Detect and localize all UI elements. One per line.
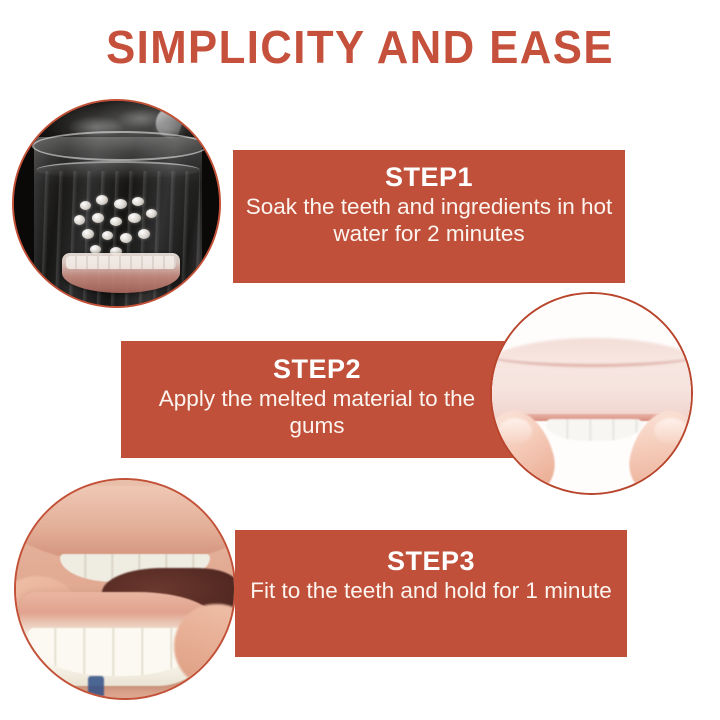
bead (110, 217, 122, 226)
step-3-description: Fit to the teeth and hold for 1 minute (235, 577, 627, 604)
step-3-title: STEP3 (235, 547, 627, 577)
bead (138, 229, 150, 239)
page-title: SIMPLICITY AND EASE (18, 24, 702, 70)
bead (146, 209, 157, 218)
bead (102, 231, 113, 240)
step-1-panel: STEP1 Soak the teeth and ingredients in … (233, 150, 625, 283)
fingernail-left (498, 418, 532, 444)
infographic-canvas: SIMPLICITY AND EASE (0, 0, 720, 720)
bead (128, 213, 141, 223)
step-2-panel: STEP2 Apply the melted material to the g… (121, 341, 513, 458)
step-2-title: STEP2 (121, 355, 513, 385)
step-1-photo (12, 99, 221, 308)
mouth-photo-scene (16, 480, 234, 698)
fingernail-right (654, 418, 688, 444)
gums-photo-scene (492, 294, 691, 493)
step-3-panel: STEP3 Fit to the teeth and hold for 1 mi… (235, 530, 627, 657)
step-1-title: STEP1 (233, 163, 625, 193)
bead (114, 199, 127, 209)
background-object (88, 676, 104, 698)
bead (120, 233, 132, 243)
water-surface (36, 161, 200, 179)
bead (92, 213, 104, 223)
step-3-photo (14, 478, 236, 700)
bead (80, 201, 91, 210)
upper-lip (14, 486, 236, 564)
bead (82, 229, 94, 239)
bead (96, 195, 108, 205)
step-2-photo (490, 292, 693, 495)
teeth-row (546, 419, 642, 441)
step-2-description: Apply the melted material to the gums (121, 385, 513, 440)
bead (132, 197, 144, 206)
denture-teeth (66, 256, 176, 269)
step-1-description: Soak the teeth and ingredients in hot wa… (233, 193, 625, 248)
bead (74, 215, 85, 225)
gum-top-edge (490, 336, 693, 367)
glass-photo-scene (14, 101, 219, 306)
